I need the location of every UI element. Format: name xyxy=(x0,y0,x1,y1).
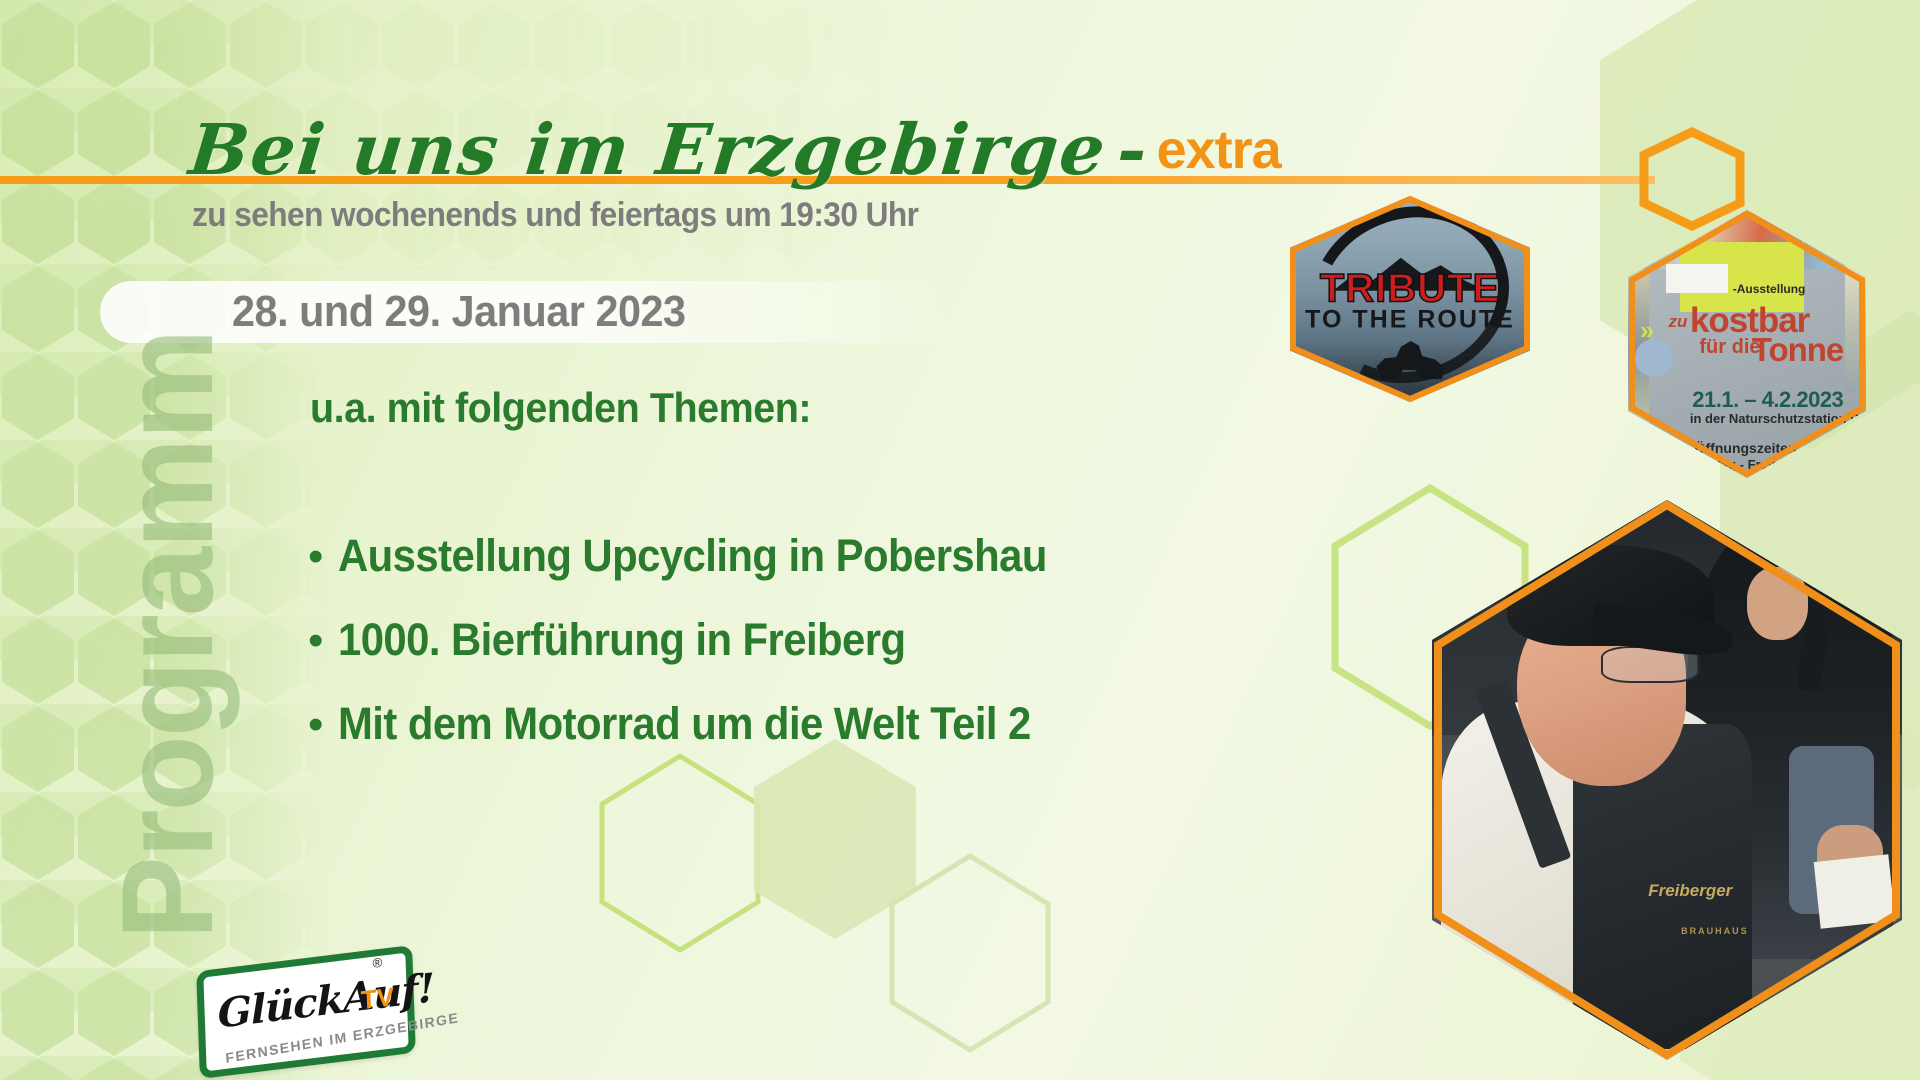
list-item-label: 1000. Bierführung in Freiberg xyxy=(338,614,906,666)
kostbar-poster-image: » -Ausstellung zu kostbar für die Tonne … xyxy=(1628,210,1866,478)
background-hex-decor-7 xyxy=(880,850,1060,1060)
poster-location-label: in der Naturschutzstation Pobershau xyxy=(1690,411,1866,426)
poster-white-block xyxy=(1666,264,1728,293)
tribute-logo-image: TRIBUTE TO THE ROUTE xyxy=(1290,196,1530,402)
themes-heading: u.a. mit folgenden Themen: xyxy=(310,384,811,432)
poster-zu-label: zu xyxy=(1668,312,1687,332)
tribute-logo-hexagon: TRIBUTE TO THE ROUTE xyxy=(1290,196,1530,402)
chevron-right-icon: » xyxy=(1640,315,1650,346)
title-dash: - xyxy=(1111,108,1152,191)
topics-list: • Ausstellung Upcycling in Pobershau • 1… xyxy=(308,530,1100,782)
bullet-icon: • xyxy=(308,703,338,747)
list-item: • Mit dem Motorrad um die Welt Teil 2 xyxy=(308,698,1100,750)
kostbar-poster-hexagon: » -Ausstellung zu kostbar für die Tonne … xyxy=(1628,210,1866,478)
list-item: • Ausstellung Upcycling in Pobershau xyxy=(308,530,1100,582)
glueckauf-tv-logo: GlückAuf! ® TV FERNSEHEN IM ERZGEBIRGE xyxy=(198,958,414,1066)
tribute-subwordmark: TO THE ROUTE xyxy=(1305,305,1515,334)
poster-tonne-label: Tonne xyxy=(1752,331,1844,369)
broadcast-time-subtitle: zu sehen wochenends und feiertags um 19:… xyxy=(192,196,918,235)
list-item-label: Ausstellung Upcycling in Pobershau xyxy=(338,530,1047,582)
apron-sub-label: BRAUHAUS xyxy=(1681,926,1749,936)
list-item: • 1000. Bierführung in Freiberg xyxy=(308,614,1100,666)
title-main: Bei uns im Erzgebirge xyxy=(186,108,1111,191)
registered-trademark-icon: ® xyxy=(372,955,382,971)
bullet-icon: • xyxy=(308,619,338,663)
logo-contents: GlückAuf! ® TV FERNSEHEN IM ERZGEBIRGE xyxy=(196,945,416,1079)
vertical-programm-label: Programm xyxy=(92,331,242,940)
list-item-label: Mit dem Motorrad um die Welt Teil 2 xyxy=(338,698,1031,750)
poster-right-strip xyxy=(1845,264,1866,393)
photo-raised-hand xyxy=(1747,567,1808,640)
broadcast-slide: Bei uns im Erzgebirge - extra zu sehen w… xyxy=(0,0,1920,1080)
page-title: Bei uns im Erzgebirge - extra xyxy=(190,108,1281,191)
apron-brand-label: Freiberger xyxy=(1648,881,1732,901)
poster-dates-label: 21.1. – 4.2.2023 xyxy=(1692,387,1843,413)
poster-ausstellung-label: -Ausstellung xyxy=(1733,282,1806,296)
date-text: 28. und 29. Januar 2023 xyxy=(232,287,686,337)
poster-hours-line: Montag - Freitag 10.00 Uhr xyxy=(1690,457,1853,472)
brewer-photo-hexagon: Freiberger BRAUHAUS xyxy=(1432,500,1902,1060)
logo-tv-label: TV xyxy=(360,981,394,1016)
bullet-icon: • xyxy=(308,535,338,579)
title-accent: extra xyxy=(1157,119,1281,181)
photo-paper xyxy=(1814,855,1896,930)
poster-hours-heading: Öffnungszeiten xyxy=(1695,440,1797,456)
brewer-photo-image: Freiberger BRAUHAUS xyxy=(1432,500,1902,1060)
